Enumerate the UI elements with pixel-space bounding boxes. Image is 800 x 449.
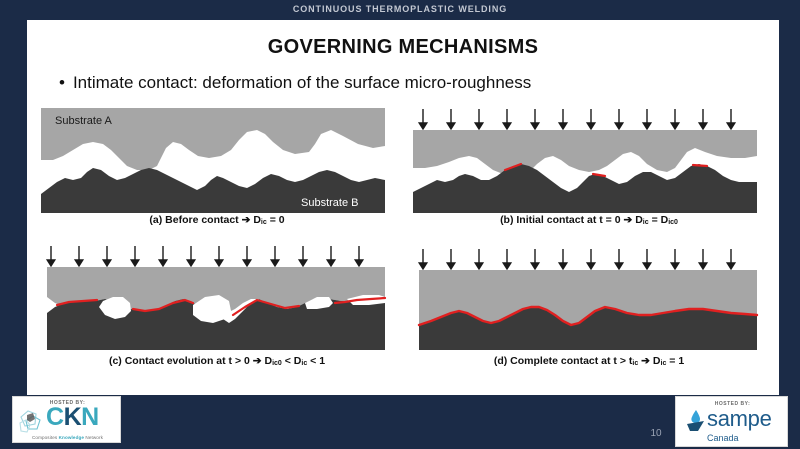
pressure-arrows-c — [47, 246, 363, 266]
panel-b-caption-sub2: ic0 — [668, 219, 678, 226]
panel-c-caption-var: D — [265, 355, 273, 367]
panel-a: Substrate A Substrate B (a) Before conta… — [33, 108, 401, 236]
panel-c-figure — [33, 245, 401, 350]
panel-c-caption: (c) Contact evolution at t > 0 ➔ Dic0 < … — [33, 355, 401, 367]
panel-c-caption-mid: < D — [285, 355, 302, 367]
panel-d-caption: (d) Complete contact at t > tic ➔ Dic = … — [405, 355, 773, 367]
panel-d-caption-sub: ic — [661, 360, 667, 367]
ckn-wordmark: CKN — [46, 405, 99, 430]
figure-grid: Substrate A Substrate B (a) Before conta… — [27, 108, 779, 373]
slide-root: CONTINUOUS THERMOPLASTIC WELDING GOVERNI… — [0, 0, 800, 449]
panel-b-caption-arrow: ➔ — [623, 214, 632, 226]
ckn-letter-k: K — [64, 403, 82, 431]
ckn-letter-c: C — [46, 403, 64, 431]
panel-b-caption-suffix: = D — [652, 214, 669, 226]
substrate-b-label: Substrate B — [301, 197, 358, 209]
sampe-droplet-icon — [686, 410, 705, 432]
bullet-marker: • — [59, 72, 65, 93]
panel-a-caption-suffix: = 0 — [270, 214, 285, 226]
panel-c: (c) Contact evolution at t > 0 ➔ Dic0 < … — [33, 245, 401, 373]
panel-b-caption-sub: ic — [643, 219, 649, 226]
panel-c-caption-sub: ic0 — [272, 360, 282, 367]
panel-c-caption-prefix: (c) Contact evolution at t > 0 — [109, 355, 250, 367]
bullet-item: • Intimate contact: deformation of the s… — [59, 72, 759, 93]
bullet-label: Intimate contact: deformation of the sur… — [73, 72, 531, 93]
panel-d-figure — [405, 245, 773, 350]
banner-title: CONTINUOUS THERMOPLASTIC WELDING — [293, 4, 507, 14]
panel-d-caption-sub0: ic — [632, 360, 638, 367]
panel-a-caption-var: D — [253, 214, 261, 226]
sampe-region-label: Canada — [707, 433, 739, 443]
panel-a-caption-sub: ic — [261, 219, 267, 226]
top-banner: CONTINUOUS THERMOPLASTIC WELDING — [0, 0, 800, 18]
substrate-b-shape-b — [413, 164, 757, 213]
panel-b-caption-prefix: (b) Initial contact at t = 0 — [500, 214, 620, 226]
panel-b-figure — [405, 108, 773, 213]
panel-a-caption-arrow: ➔ — [242, 214, 251, 226]
panel-b-caption: (b) Initial contact at t = 0 ➔ Dic = Dic… — [405, 214, 773, 226]
pressure-arrows-d — [419, 249, 735, 269]
panel-d-caption-arrow: ➔ — [641, 355, 650, 367]
ckn-letter-n: N — [81, 403, 99, 431]
panel-c-caption-arrow: ➔ — [253, 355, 262, 367]
panel-b-caption-var: D — [635, 214, 643, 226]
content-sheet: GOVERNING MECHANISMS • Intimate contact:… — [27, 20, 779, 395]
panel-d-caption-var: D — [653, 355, 661, 367]
page-title: GOVERNING MECHANISMS — [27, 36, 779, 59]
sampe-wordmark: sampe — [707, 408, 772, 430]
panel-c-caption-suffix: < 1 — [310, 355, 325, 367]
panel-c-caption-sub2: ic — [301, 360, 307, 367]
panel-b: (b) Initial contact at t = 0 ➔ Dic = Dic… — [405, 108, 773, 236]
ckn-tagline: Composites Knowledge Network — [13, 435, 121, 440]
pressure-arrows-b — [419, 109, 735, 129]
page-number: 10 — [636, 428, 676, 439]
ckn-tagline-1: Composites — [32, 435, 59, 440]
panel-a-caption: (a) Before contact ➔ Dic = 0 — [33, 214, 401, 226]
panel-d: (d) Complete contact at t > tic ➔ Dic = … — [405, 245, 773, 373]
panel-a-figure: Substrate A Substrate B — [33, 108, 401, 213]
panel-a-caption-prefix: (a) Before contact — [149, 214, 238, 226]
ckn-tagline-3: Network — [84, 435, 103, 440]
ckn-logo: HOSTED BY: CKN Composites Knowledge Netw… — [12, 396, 121, 443]
substrate-a-label: Substrate A — [55, 115, 113, 127]
panel-d-caption-prefix: (d) Complete contact at t > t — [494, 355, 633, 367]
ckn-tagline-2: Knowledge — [59, 435, 84, 440]
ckn-network-icon — [18, 408, 44, 434]
sampe-logo: HOSTED BY: sampe Canada — [675, 396, 788, 447]
panel-d-caption-suffix: = 1 — [669, 355, 684, 367]
